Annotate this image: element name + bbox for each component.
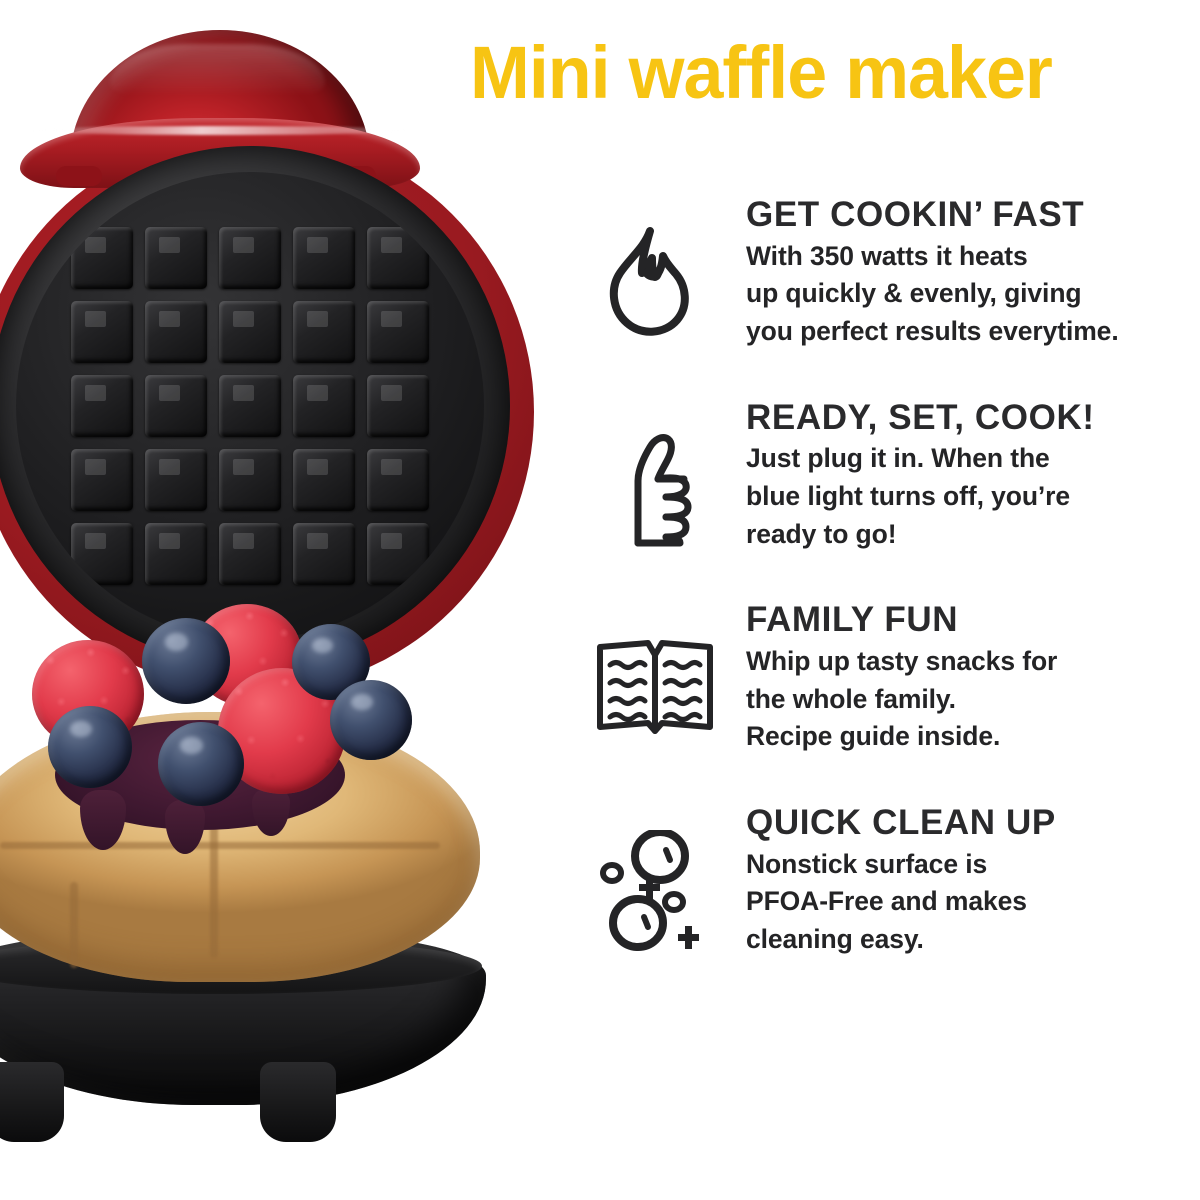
feature-body-line: Recipe guide inside. (746, 718, 1190, 756)
waffle-grid-cell (71, 523, 133, 585)
waffle-grid-cell (219, 301, 281, 363)
feature-text: GET COOKIN’ FAST With 350 watts it heats… (746, 196, 1190, 351)
blueberry-3 (158, 722, 244, 806)
product-infographic: Mini waffle maker GET COOKIN’ FAST With … (0, 0, 1200, 1200)
waffle-grid-cell (367, 375, 429, 437)
feature-body-line: Nonstick surface is (746, 846, 1190, 884)
feature-heading: FAMILY FUN (746, 601, 1190, 639)
feature-body-line: the whole family. (746, 681, 1190, 719)
bubbles-icon (598, 830, 724, 950)
waffle-plate (0, 146, 510, 666)
waffle-grid-cell (367, 301, 429, 363)
feature-heading: GET COOKIN’ FAST (746, 196, 1190, 234)
waffle-plate-grid-area (16, 172, 484, 640)
feature-body-line: Whip up tasty snacks for (746, 643, 1190, 681)
waffle-seam-3 (70, 882, 78, 968)
feature-body-line: PFOA-Free and makes (746, 883, 1190, 921)
feature-body-line: cleaning easy. (746, 921, 1190, 959)
feature-heading: READY, SET, COOK! (746, 399, 1190, 437)
waffle-grid-cell (145, 227, 207, 289)
feature-body-line: With 350 watts it heats (746, 238, 1190, 276)
waffle-grid-cell (367, 523, 429, 585)
waffle-grid-cell (219, 375, 281, 437)
base-foot-left (0, 1062, 64, 1142)
feature-body: Just plug it in. When the blue light tur… (746, 440, 1190, 553)
waffle-grid-cell (145, 301, 207, 363)
feature-body: Whip up tasty snacks for the whole famil… (746, 643, 1190, 756)
feature-body-line: blue light turns off, you’re (746, 478, 1190, 516)
feature-item: FAMILY FUN Whip up tasty snacks for the … (600, 601, 1190, 756)
waffle-grid-cell (293, 375, 355, 437)
waffle-grid-cell (71, 375, 133, 437)
waffle-grid-cell (145, 449, 207, 511)
blueberry-1 (142, 618, 230, 704)
waffle-seam-2 (210, 808, 218, 958)
product-image-waffle-maker (0, 0, 580, 1200)
feature-text: FAMILY FUN Whip up tasty snacks for the … (746, 601, 1190, 756)
thumbs-up-icon (600, 427, 726, 547)
waffle-seam-1 (0, 842, 440, 849)
feature-body: Nonstick surface is PFOA-Free and makes … (746, 846, 1190, 959)
feature-list: GET COOKIN’ FAST With 350 watts it heats… (600, 196, 1190, 959)
feature-item: QUICK CLEAN UP Nonstick surface is PFOA-… (600, 804, 1190, 959)
waffle-grid-cell (219, 227, 281, 289)
blueberry-5 (330, 680, 412, 760)
blueberry-2 (48, 706, 132, 788)
waffle-grid-cell (293, 523, 355, 585)
feature-item: GET COOKIN’ FAST With 350 watts it heats… (600, 196, 1190, 351)
lid-dome-highlight (110, 44, 325, 96)
lid-rim-highlight (32, 126, 408, 135)
feature-body-line: up quickly & evenly, giving (746, 275, 1190, 313)
page-title: Mini waffle maker (470, 36, 1149, 110)
feature-item: READY, SET, COOK! Just plug it in. When … (600, 399, 1190, 554)
feature-body: With 350 watts it heats up quickly & eve… (746, 238, 1190, 351)
feature-body-line: Just plug it in. When the (746, 440, 1190, 478)
open-book-icon (592, 635, 718, 755)
waffle-grid-cell (293, 301, 355, 363)
flame-icon (600, 224, 726, 344)
waffle-grid-cell (145, 523, 207, 585)
waffle-grid-cell (367, 227, 429, 289)
waffle-grid (16, 172, 484, 640)
waffle-grid-cell (145, 375, 207, 437)
waffle-grid-cell (71, 449, 133, 511)
waffle-grid-cell (367, 449, 429, 511)
base-foot-right (260, 1062, 336, 1142)
feature-heading: QUICK CLEAN UP (746, 804, 1190, 842)
feature-text: READY, SET, COOK! Just plug it in. When … (746, 399, 1190, 554)
feature-text: QUICK CLEAN UP Nonstick surface is PFOA-… (746, 804, 1190, 959)
waffle-grid-cell (71, 301, 133, 363)
waffle-grid-cell (293, 227, 355, 289)
waffle-grid-cell (219, 449, 281, 511)
waffle-grid-cell (293, 449, 355, 511)
waffle-grid-cell (219, 523, 281, 585)
waffle-grid-cell (71, 227, 133, 289)
feature-body-line: ready to go! (746, 516, 1190, 554)
feature-body-line: you perfect results everytime. (746, 313, 1190, 351)
